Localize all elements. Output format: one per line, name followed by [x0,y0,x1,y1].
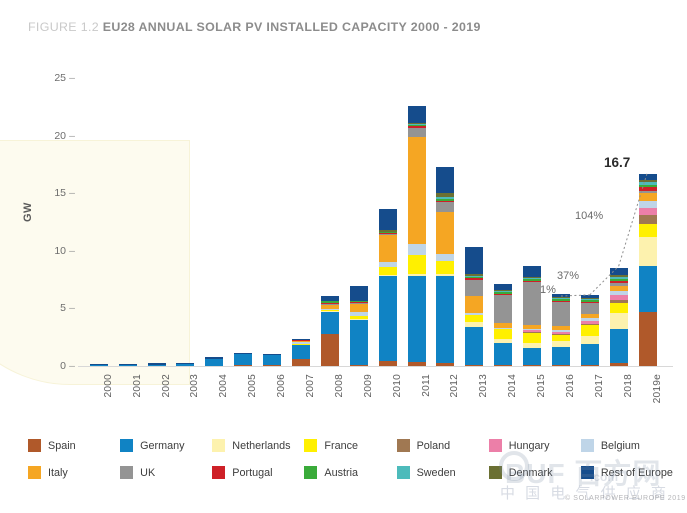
bar-segment-spain[interactable] [321,334,339,366]
bar-stack [465,247,483,366]
legend-label: Poland [417,440,451,452]
legend-item-germany[interactable]: Germany [120,432,212,459]
bar-segment-germany[interactable] [436,276,454,364]
bar-stack [234,353,252,366]
bar-segment-italy[interactable] [408,137,426,244]
bar-segment-germany[interactable] [292,345,310,359]
bar-segment-germany[interactable] [552,347,570,365]
bar-stack [292,339,310,366]
legend-label: Rest of Europe [601,467,673,479]
bar-segment-uk[interactable] [581,303,599,313]
bar-segment-rest-of-europe[interactable] [408,106,426,122]
legend-label: UK [140,467,155,479]
x-axis-label-2019e: 2019e [652,374,663,403]
legend-item-hungary[interactable]: Hungary [489,432,581,459]
legend-swatch-icon [28,466,41,479]
bar-segment-france[interactable] [639,224,657,237]
bar-segment-france[interactable] [581,325,599,335]
legend-label: Austria [324,467,358,479]
x-axis-label-2018: 2018 [623,374,634,397]
bar-stack [321,296,339,366]
x-axis-label-2002: 2002 [161,374,172,397]
bar-segment-rest-of-europe[interactable] [639,174,657,181]
bar-segment-spain[interactable] [292,359,310,366]
bar-segment-france[interactable] [436,261,454,274]
x-axis-label-2001: 2001 [132,374,143,397]
bar-stack [552,294,570,366]
bar-segment-france[interactable] [523,333,541,343]
bar-segment-uk[interactable] [408,128,426,137]
x-axis-label-2012: 2012 [449,374,460,397]
bar-segment-rest-of-europe[interactable] [523,266,541,277]
bar-stack [205,357,223,366]
legend-item-italy[interactable]: Italy [28,459,120,486]
x-axis-label-2008: 2008 [334,374,345,397]
bar-stack [639,174,657,366]
legend-item-rest-of-europe[interactable]: Rest of Europe [581,459,673,486]
legend-swatch-icon [581,466,594,479]
bar-segment-netherlands[interactable] [581,336,599,345]
bar-segment-germany[interactable] [408,276,426,362]
legend-item-portugal[interactable]: Portugal [212,459,304,486]
legend-item-belgium[interactable]: Belgium [581,432,673,459]
bar-segment-germany[interactable] [581,344,599,364]
x-axis-label-2006: 2006 [276,374,287,397]
bar-segment-uk[interactable] [494,295,512,323]
bar-segment-belgium[interactable] [639,201,657,208]
bar-stack [350,286,368,366]
bar-segment-uk[interactable] [465,280,483,297]
legend-label: Italy [48,467,68,479]
bar-segment-uk[interactable] [436,202,454,213]
legend-swatch-icon [120,466,133,479]
chart-legend: SpainGermanyNetherlandsFrancePolandHunga… [28,432,673,486]
bar-segment-rest-of-europe[interactable] [379,209,397,230]
x-axis-label-2009: 2009 [363,374,374,397]
bar-stack [523,266,541,366]
bar-segment-france[interactable] [379,267,397,275]
bar-segment-rest-of-europe[interactable] [436,167,454,193]
legend-item-france[interactable]: France [304,432,396,459]
bar-stack [379,209,397,366]
annotation-growth-2018: 104% [575,210,603,222]
x-axis-label-2003: 2003 [189,374,200,397]
legend-swatch-icon [489,466,502,479]
bar-segment-germany[interactable] [205,359,223,366]
bar-stack [581,295,599,366]
page-title: FIGURE 1.2 EU28 ANNUAL SOLAR PV INSTALLE… [28,20,481,34]
bar-segment-germany[interactable] [321,312,339,334]
bar-segment-poland[interactable] [639,215,657,224]
x-axis-label-2007: 2007 [305,374,316,397]
bar-segment-spain[interactable] [639,312,657,366]
bar-segment-italy[interactable] [465,296,483,313]
legend-label: Portugal [232,467,272,479]
legend-swatch-icon [120,439,133,452]
bar-segment-rest-of-europe[interactable] [350,286,368,300]
legend-label: Spain [48,440,76,452]
value-label-2019e: 16.7 [604,155,630,170]
plot-area: 0–5–10–15–20–25– [78,78,673,366]
bar-segment-germany[interactable] [465,327,483,365]
y-axis-tick: 10– [44,245,78,257]
legend-item-spain[interactable]: Spain [28,432,120,459]
bar-segment-italy[interactable] [350,304,368,312]
x-axis-label-2016: 2016 [565,374,576,397]
legend-label: Hungary [509,440,550,452]
bar-segment-italy[interactable] [379,235,397,262]
legend-label: Denmark [509,467,553,479]
bar-segment-germany[interactable] [379,276,397,361]
x-axis-label-2010: 2010 [392,374,403,397]
y-axis-tick: 25– [44,72,78,84]
bar-segment-netherlands[interactable] [639,237,657,266]
bar-segment-france[interactable] [408,255,426,275]
legend-label: Germany [140,440,184,452]
bar-segment-netherlands[interactable] [610,313,628,329]
bar-segment-italy[interactable] [639,193,657,200]
x-axis-label-2004: 2004 [218,374,229,397]
legend-swatch-icon [581,439,594,452]
bar-segment-germany[interactable] [350,320,368,365]
legend-item-denmark[interactable]: Denmark [489,459,581,486]
x-axis-label-2013: 2013 [478,374,489,397]
bar-stack [494,284,512,366]
x-axis-label-2017: 2017 [594,374,605,397]
legend-swatch-icon [397,439,410,452]
legend-swatch-icon [304,439,317,452]
figure-title-text: EU28 ANNUAL SOLAR PV INSTALLED CAPACITY … [103,20,481,34]
bar-stack [408,106,426,366]
x-axis-label-2015: 2015 [536,374,547,397]
y-axis-tick: 5– [44,302,78,314]
bar-segment-rest-of-europe[interactable] [610,268,628,276]
y-axis-label: GW [22,202,34,222]
annotation-growth-2016: 1% [540,284,556,296]
legend-swatch-icon [212,466,225,479]
legend-item-uk[interactable]: UK [120,459,212,486]
bar-segment-france[interactable] [465,315,483,322]
y-axis-tick: 15– [44,187,78,199]
legend-label: Sweden [417,467,456,479]
x-axis-label-2011: 2011 [421,374,432,397]
y-axis-tick: 0– [44,360,78,372]
legend-swatch-icon [304,466,317,479]
bar-stack [263,354,281,366]
bar-segment-germany[interactable] [263,355,281,365]
bar-segment-belgium[interactable] [408,244,426,255]
bar-segment-uk[interactable] [552,302,570,326]
bar-stack [610,268,628,366]
bar-segment-italy[interactable] [436,212,454,253]
bar-segment-hungary[interactable] [639,208,657,216]
legend-swatch-icon [28,439,41,452]
bar-segment-france[interactable] [494,329,512,340]
bar-segment-belgium[interactable] [436,254,454,261]
bar-segment-uk[interactable] [523,282,541,325]
bar-stack [436,167,454,366]
bar-segment-germany[interactable] [610,329,628,363]
bar-segment-france[interactable] [610,303,628,313]
bar-segment-germany[interactable] [523,348,541,365]
legend-swatch-icon [397,466,410,479]
legend-label: Netherlands [232,440,290,452]
legend-swatch-icon [489,439,502,452]
bar-segment-germany[interactable] [639,266,657,312]
bar-segment-germany[interactable] [494,343,512,365]
legend-item-austria[interactable]: Austria [304,459,396,486]
legend-label: France [324,440,358,452]
legend-item-poland[interactable]: Poland [397,432,489,459]
copyright-credit: © SOLARPOWER EUROPE 2019 [565,495,686,502]
legend-item-sweden[interactable]: Sweden [397,459,489,486]
y-axis-tick: 20– [44,130,78,142]
figure-number: FIGURE 1.2 [28,20,99,34]
bar-segment-rest-of-europe[interactable] [465,247,483,275]
annotation-growth-2017: 37% [557,270,579,282]
legend-label: Belgium [601,440,640,452]
x-axis-label-2005: 2005 [247,374,258,397]
bar-segment-germany[interactable] [234,354,252,364]
x-axis-baseline [78,366,673,367]
legend-item-netherlands[interactable]: Netherlands [212,432,304,459]
x-axis-label-2000: 2000 [103,374,114,397]
legend-swatch-icon [212,439,225,452]
x-axis-label-2014: 2014 [507,374,518,397]
